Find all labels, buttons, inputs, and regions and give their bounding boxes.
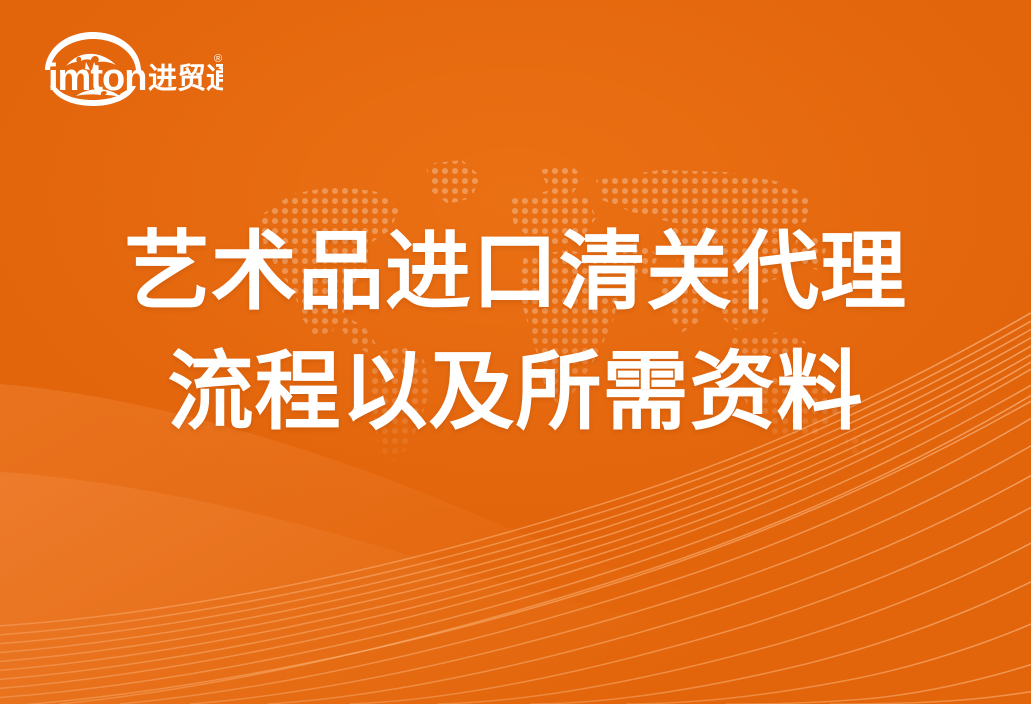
headline-block: 艺术品进口清关代理 流程以及所需资料 bbox=[0, 212, 1031, 452]
headline-line-2: 流程以及所需资料 bbox=[0, 332, 1031, 452]
banner-canvas: imton 进贸通 ® 艺术品进口清关代理 流程以及所需资料 bbox=[0, 0, 1031, 704]
logo-chinese-name: 进贸通 bbox=[148, 62, 223, 95]
imton-logo[interactable]: imton 进贸通 ® bbox=[38, 26, 223, 108]
registered-trademark-icon: ® bbox=[214, 53, 222, 65]
headline-line-1: 艺术品进口清关代理 bbox=[0, 212, 1031, 332]
logo-wordmark: imton bbox=[48, 57, 146, 99]
